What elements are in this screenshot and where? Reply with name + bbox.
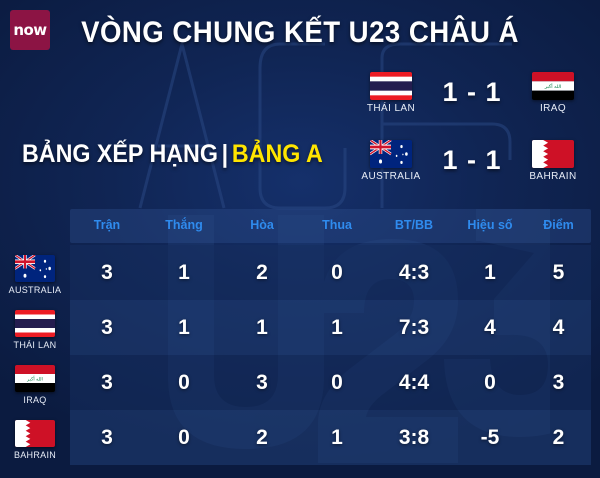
column-header-drawn: Hòa: [224, 219, 300, 232]
cell-diff: 1: [454, 261, 526, 285]
standings-team-cell: AUSTRALIA: [0, 247, 70, 302]
cell-diff: -5: [454, 426, 526, 450]
match-home-team-name: AUSTRALIA: [361, 171, 420, 182]
match-home-team: AUSTRALIA: [352, 140, 430, 182]
subtitle-group-badge: BẢNG A: [232, 140, 323, 168]
column-header-played: Trận: [70, 219, 144, 232]
iraq-flag-icon: الله أكبر: [15, 365, 55, 392]
subtitle-separator: |: [218, 140, 232, 168]
cell-goals: 4:3: [374, 261, 454, 285]
cell-lost: 0: [300, 371, 374, 395]
standings-team-name: BAHRAIN: [14, 450, 56, 460]
cell-drawn: 3: [224, 371, 300, 395]
table-row: 3 0 3 0 4:4 0 3: [70, 355, 591, 410]
bahrain-flag-icon: [532, 140, 574, 168]
cell-won: 0: [144, 371, 224, 395]
australia-flag-icon: [370, 140, 412, 168]
table-row: 3 1 1 1 7:3 4 4: [70, 300, 591, 355]
match-score: 1 - 1: [442, 72, 501, 112]
standings-table: Trận Thắng Hòa Thua BT/BB Hiệu số Điểm 3…: [70, 209, 591, 465]
standings-team-cell: الله أكبر IRAQ: [0, 357, 70, 412]
cell-points: 5: [526, 261, 591, 285]
cell-points: 2: [526, 426, 591, 450]
match-row: AUSTRALIA 1 - 1 BAHRAIN: [352, 140, 592, 202]
cell-played: 3: [70, 371, 144, 395]
match-score: 1 - 1: [442, 140, 501, 180]
standings-team-cell: THÁI LAN: [0, 302, 70, 357]
australia-flag-icon: [15, 255, 55, 282]
cell-won: 0: [144, 426, 224, 450]
column-header-goals: BT/BB: [374, 219, 454, 232]
match-away-team: BAHRAIN: [514, 140, 592, 182]
svg-text:الله أكبر: الله أكبر: [544, 83, 562, 90]
cell-goals: 7:3: [374, 316, 454, 340]
match-row: THÁI LAN 1 - 1 الله أكبر IRAQ: [352, 72, 592, 134]
thailand-flag-icon: [370, 72, 412, 100]
cell-diff: 4: [454, 316, 526, 340]
column-header-points: Điểm: [526, 219, 591, 232]
subtitle: BẢNG XẾP HẠNG|BẢNG A: [22, 140, 323, 169]
standings-team-column: AUSTRALIA THÁI LAN الله أكبر: [0, 247, 70, 467]
match-home-team: THÁI LAN: [352, 72, 430, 114]
cell-played: 3: [70, 316, 144, 340]
cell-points: 4: [526, 316, 591, 340]
cell-lost: 0: [300, 261, 374, 285]
column-header-diff: Hiệu số: [454, 219, 526, 232]
cell-drawn: 1: [224, 316, 300, 340]
cell-won: 1: [144, 316, 224, 340]
column-header-won: Thắng: [144, 219, 224, 232]
cell-drawn: 2: [224, 261, 300, 285]
cell-won: 1: [144, 261, 224, 285]
iraq-flag-icon: الله أكبر: [532, 72, 574, 100]
cell-lost: 1: [300, 316, 374, 340]
cell-goals: 3:8: [374, 426, 454, 450]
match-results: THÁI LAN 1 - 1 الله أكبر IRAQ: [352, 72, 592, 202]
match-away-team: الله أكبر IRAQ: [514, 72, 592, 114]
match-away-team-name: BAHRAIN: [529, 171, 576, 182]
cell-lost: 1: [300, 426, 374, 450]
standings-graphic: now VÒNG CHUNG KẾT U23 CHÂU Á BẢNG XẾP H…: [0, 0, 600, 478]
cell-drawn: 2: [224, 426, 300, 450]
cell-points: 3: [526, 371, 591, 395]
bahrain-flag-icon: [15, 420, 55, 447]
table-row: 3 0 2 1 3:8 -5 2: [70, 410, 591, 465]
standings-team-name: AUSTRALIA: [9, 285, 62, 295]
column-header-lost: Thua: [300, 219, 374, 232]
subtitle-main: BẢNG XẾP HẠNG: [22, 140, 218, 168]
table-row: 3 1 2 0 4:3 1 5: [70, 245, 591, 300]
standings-team-name: THÁI LAN: [14, 340, 57, 350]
match-home-team-name: THÁI LAN: [367, 103, 415, 114]
cell-diff: 0: [454, 371, 526, 395]
standings-table-header: Trận Thắng Hòa Thua BT/BB Hiệu số Điểm: [70, 209, 591, 243]
page-title: VÒNG CHUNG KẾT U23 CHÂU Á: [24, 16, 576, 50]
standings-team-cell: BAHRAIN: [0, 412, 70, 467]
standings-table-body: 3 1 2 0 4:3 1 5 3 1 1 1 7:3 4 4 3 0 3: [70, 245, 591, 465]
standings-team-name: IRAQ: [23, 395, 46, 405]
cell-goals: 4:4: [374, 371, 454, 395]
cell-played: 3: [70, 261, 144, 285]
match-away-team-name: IRAQ: [540, 103, 566, 114]
thailand-flag-icon: [15, 310, 55, 337]
cell-played: 3: [70, 426, 144, 450]
